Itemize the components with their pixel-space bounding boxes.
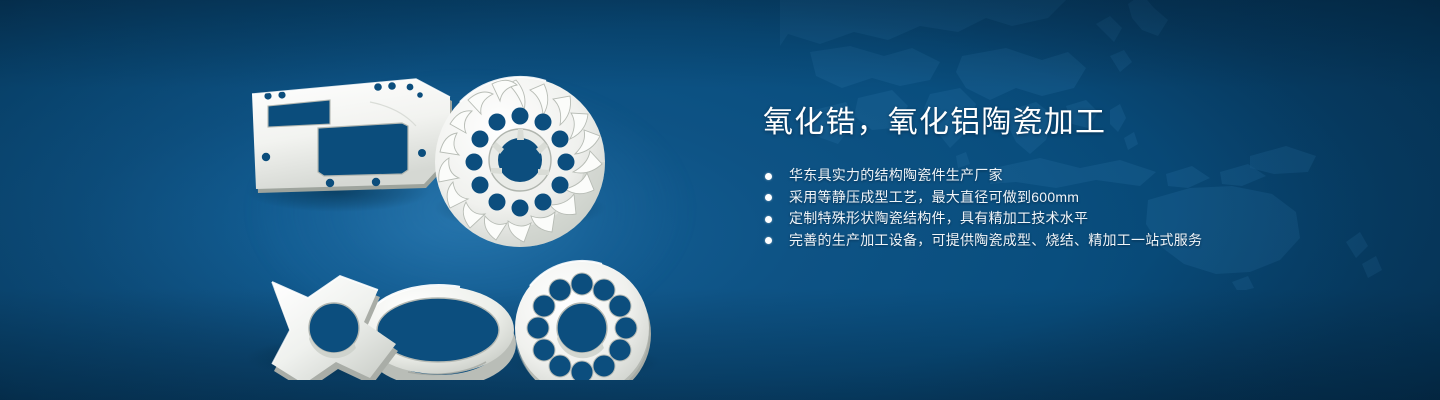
bullet-dot-icon [765, 173, 772, 180]
hero-banner: 氧化锆，氧化铝陶瓷加工 华东具实力的结构陶瓷件生产厂家 采用等静压成型工艺，最大… [0, 0, 1440, 400]
ceramic-impeller-disc [435, 77, 605, 247]
list-item: 定制特殊形状陶瓷结构件，具有精加工技术水平 [763, 208, 1323, 230]
list-item-label: 华东具实力的结构陶瓷件生产厂家 [789, 167, 1003, 183]
list-item: 完善的生产加工设备，可提供陶瓷成型、烧结、精加工一站式服务 [763, 230, 1323, 252]
ceramic-perforated-valve-plate [515, 261, 651, 380]
bullet-dot-icon [765, 237, 772, 244]
feature-list: 华东具实力的结构陶瓷件生产厂家 采用等静压成型工艺，最大直径可做到600mm 定… [763, 165, 1323, 251]
headline: 氧化锆，氧化铝陶瓷加工 [763, 108, 1323, 138]
bullet-dot-icon [765, 216, 772, 223]
list-item-label: 采用等静压成型工艺，最大直径可做到600mm [789, 189, 1079, 205]
banner-copy: 氧化锆，氧化铝陶瓷加工 华东具实力的结构陶瓷件生产厂家 采用等静压成型工艺，最大… [763, 108, 1323, 251]
bullet-dot-icon [765, 194, 772, 201]
list-item-label: 完善的生产加工设备，可提供陶瓷成型、烧结、精加工一站式服务 [789, 232, 1202, 248]
ceramic-machined-plate [252, 79, 452, 193]
ceramic-products-image [230, 40, 710, 380]
list-item: 华东具实力的结构陶瓷件生产厂家 [763, 165, 1323, 187]
list-item-label: 定制特殊形状陶瓷结构件，具有精加工技术水平 [789, 210, 1088, 226]
list-item: 采用等静压成型工艺，最大直径可做到600mm [763, 187, 1323, 209]
